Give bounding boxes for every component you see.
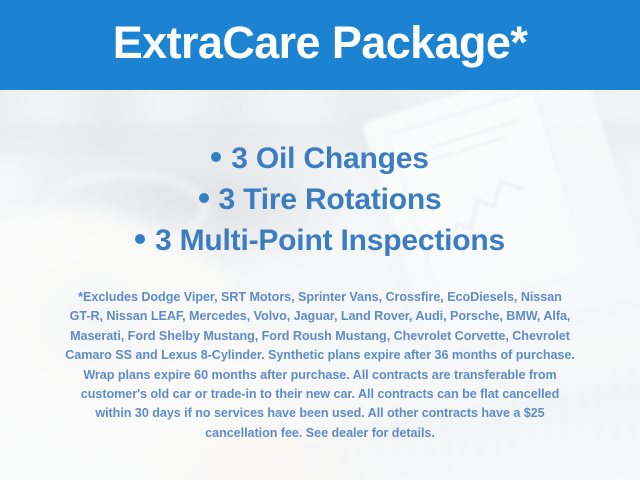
disclaimer-line: Wrap plans expire 60 months after purcha… [26, 366, 614, 385]
list-item: 3 Tire Rotations [0, 179, 640, 220]
list-item: 3 Multi-Point Inspections [0, 220, 640, 261]
disclaimer-line: *Excludes Dodge Viper, SRT Motors, Sprin… [26, 288, 614, 307]
bullet-dot-icon [211, 152, 221, 162]
list-item: 3 Oil Changes [0, 138, 640, 179]
bullet-label: 3 Oil Changes [231, 142, 428, 175]
disclaimer-line: cancellation fee. See dealer for details… [26, 424, 614, 443]
disclaimer-line: customer's old car or trade-in to their … [26, 385, 614, 404]
extracare-package-ad: ExtraCare Package* 3 Oil Changes 3 Tire … [0, 0, 640, 480]
header-banner: ExtraCare Package* [0, 0, 640, 90]
bullet-dot-icon [135, 234, 145, 244]
disclaimer-line: within 30 days if no services have been … [26, 404, 614, 423]
disclaimer-text: *Excludes Dodge Viper, SRT Motors, Sprin… [26, 288, 614, 443]
page-title: ExtraCare Package* [0, 16, 640, 70]
offer-bullet-list: 3 Oil Changes 3 Tire Rotations 3 Multi-P… [0, 138, 640, 261]
bullet-label: 3 Tire Rotations [219, 183, 442, 216]
bullet-label: 3 Multi-Point Inspections [155, 224, 505, 257]
bullet-dot-icon [199, 193, 209, 203]
disclaimer-line: GT-R, Nissan LEAF, Mercedes, Volvo, Jagu… [26, 307, 614, 326]
disclaimer-line: Maserati, Ford Shelby Mustang, Ford Rous… [26, 327, 614, 346]
disclaimer-line: Camaro SS and Lexus 8-Cylinder. Syntheti… [26, 346, 614, 365]
